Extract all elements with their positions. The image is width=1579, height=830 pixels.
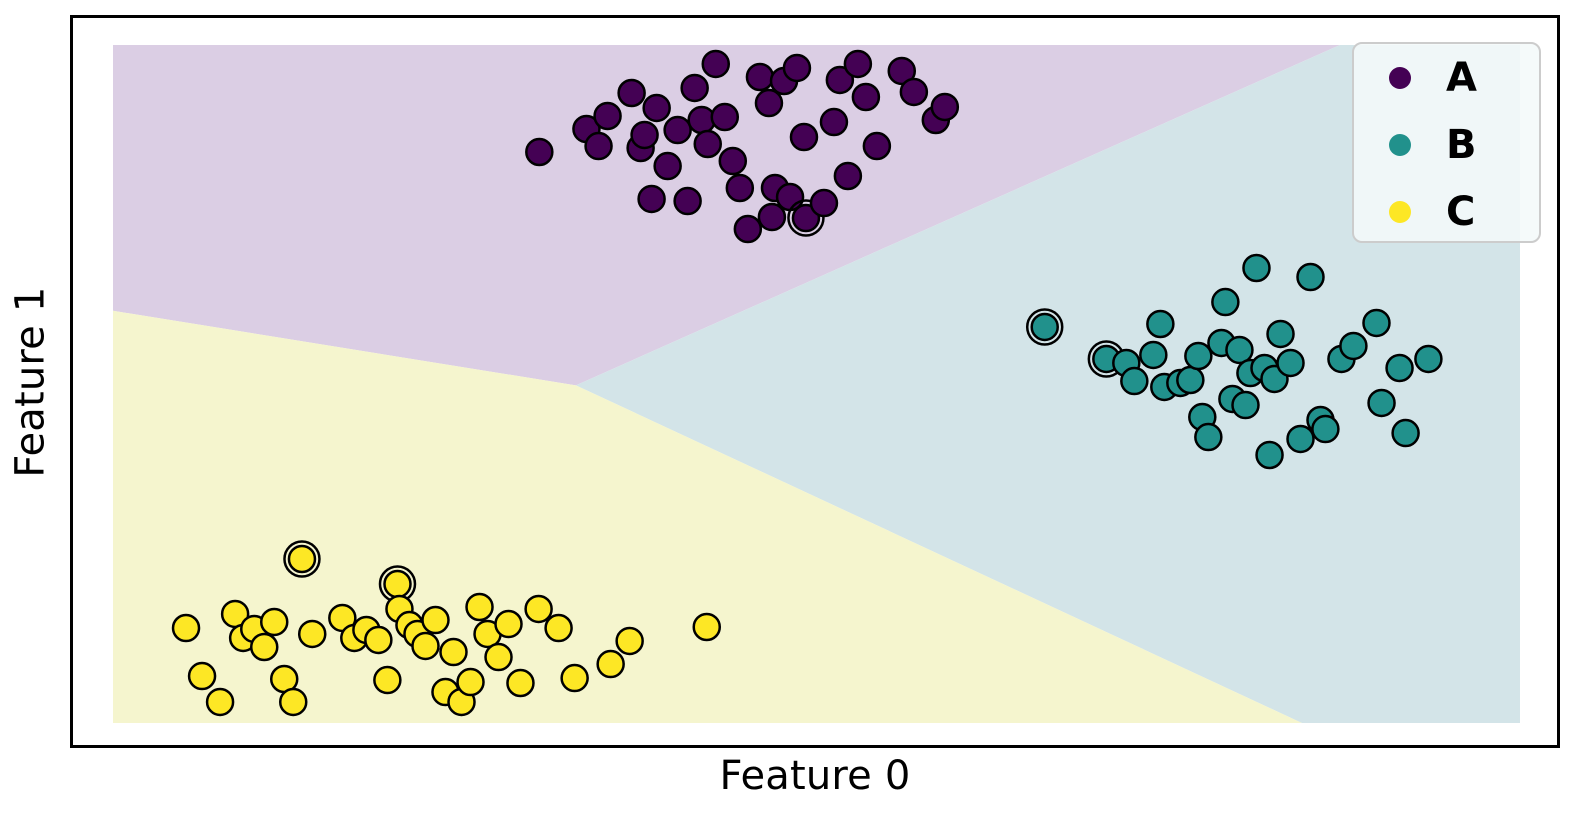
- scatter-point-b: [1212, 289, 1238, 315]
- scatter-point-c: [207, 689, 233, 715]
- legend-marker-a-icon: [1389, 67, 1411, 89]
- scatter-point-a: [784, 55, 810, 81]
- legend-entry-a[interactable]: A: [1354, 44, 1539, 111]
- scatter-point-c: [467, 594, 493, 620]
- scatter-point-a: [845, 51, 871, 77]
- scatter-point-c: [496, 611, 522, 637]
- scatter-point-c: [507, 670, 533, 696]
- scatter-point-a: [595, 103, 621, 129]
- scatter-point-c: [440, 639, 466, 665]
- scatter-point-c: [374, 667, 400, 693]
- scatter-point-b: [1278, 350, 1304, 376]
- legend[interactable]: A B C: [1352, 42, 1541, 243]
- scatter-point-a: [526, 139, 552, 165]
- scatter-point-c: [365, 627, 391, 653]
- scatter-point-c: [173, 615, 199, 641]
- scatter-point-a: [835, 163, 861, 189]
- scatter-point-a: [735, 216, 761, 242]
- scatter-point-b: [1393, 420, 1419, 446]
- scatter-point-b: [1147, 311, 1173, 337]
- scatter-point-c: [261, 609, 287, 635]
- legend-marker-a-cell: [1354, 67, 1446, 89]
- scatter-point-b: [1268, 321, 1294, 347]
- scatter-point-a: [901, 79, 927, 105]
- plot-area: [113, 45, 1520, 723]
- scatter-point-c: [598, 651, 624, 677]
- legend-marker-b-cell: [1354, 134, 1446, 156]
- scatter-point-c: [299, 621, 325, 647]
- scatter-point-b: [1032, 314, 1058, 340]
- scatter-point-b: [1121, 368, 1147, 394]
- scatter-point-b: [1312, 416, 1338, 442]
- scatter-point-a: [682, 75, 708, 101]
- scatter-point-b: [1232, 392, 1258, 418]
- legend-marker-b-icon: [1389, 134, 1411, 156]
- scatter-point-a: [791, 124, 817, 150]
- scatter-point-a: [619, 80, 645, 106]
- legend-label-a: A: [1446, 58, 1477, 98]
- scatter-point-b: [1297, 264, 1323, 290]
- scatter-point-b: [1387, 355, 1413, 381]
- scatter-point-b: [1288, 426, 1314, 452]
- scatter-point-a: [665, 117, 691, 143]
- scatter-point-c: [384, 571, 410, 597]
- scatter-point-a: [932, 94, 958, 120]
- scatter-point-a: [811, 190, 837, 216]
- scatter-point-b: [1415, 346, 1441, 372]
- scatter-point-c: [458, 669, 484, 695]
- scatter-point-c: [694, 614, 720, 640]
- scatter-point-a: [821, 109, 847, 135]
- scatter-point-c: [486, 644, 512, 670]
- scatter-point-a: [675, 188, 701, 214]
- scatter-point-b: [1363, 310, 1389, 336]
- decision-boundary-figure: Feature 0 Feature 1 A B C: [0, 0, 1579, 830]
- scatter-point-b: [1177, 367, 1203, 393]
- scatter-point-a: [632, 122, 658, 148]
- legend-marker-c-icon: [1389, 201, 1411, 223]
- scatter-point-b: [1340, 333, 1366, 359]
- scatter-point-b: [1257, 442, 1283, 468]
- scatter-point-c: [289, 546, 315, 572]
- scatter-point-c: [562, 665, 588, 691]
- x-axis-label: Feature 0: [70, 756, 1560, 796]
- legend-label-c: C: [1446, 192, 1475, 232]
- scatter-point-a: [689, 107, 715, 133]
- scatter-point-c: [546, 615, 572, 641]
- scatter-point-a: [695, 131, 721, 157]
- scatter-point-a: [720, 148, 746, 174]
- scatter-point-a: [639, 186, 665, 212]
- scatter-point-a: [644, 95, 670, 121]
- scatter-point-c: [189, 663, 215, 689]
- scatter-point-layer: [113, 45, 1520, 723]
- scatter-point-a: [747, 64, 773, 90]
- scatter-point-c: [280, 689, 306, 715]
- scatter-point-a: [655, 153, 681, 179]
- scatter-point-b: [1369, 390, 1395, 416]
- scatter-point-b: [1185, 343, 1211, 369]
- legend-entry-c[interactable]: C: [1354, 178, 1539, 245]
- scatter-point-a: [864, 133, 890, 159]
- scatter-point-a: [727, 175, 753, 201]
- scatter-point-c: [412, 633, 438, 659]
- scatter-point-c: [617, 628, 643, 654]
- scatter-point-a: [586, 133, 612, 159]
- scatter-point-a: [703, 51, 729, 77]
- scatter-point-a: [853, 84, 879, 110]
- y-axis-label-container: Feature 1: [0, 15, 62, 748]
- scatter-point-c: [526, 596, 552, 622]
- scatter-point-c: [251, 634, 277, 660]
- scatter-point-a: [712, 104, 738, 130]
- scatter-point-c: [422, 607, 448, 633]
- scatter-point-b: [1195, 424, 1221, 450]
- legend-entry-b[interactable]: B: [1354, 111, 1539, 178]
- scatter-point-b: [1243, 255, 1269, 281]
- legend-marker-c-cell: [1354, 201, 1446, 223]
- scatter-point-b: [1140, 342, 1166, 368]
- y-axis-label: Feature 1: [8, 286, 54, 477]
- legend-label-b: B: [1446, 125, 1477, 165]
